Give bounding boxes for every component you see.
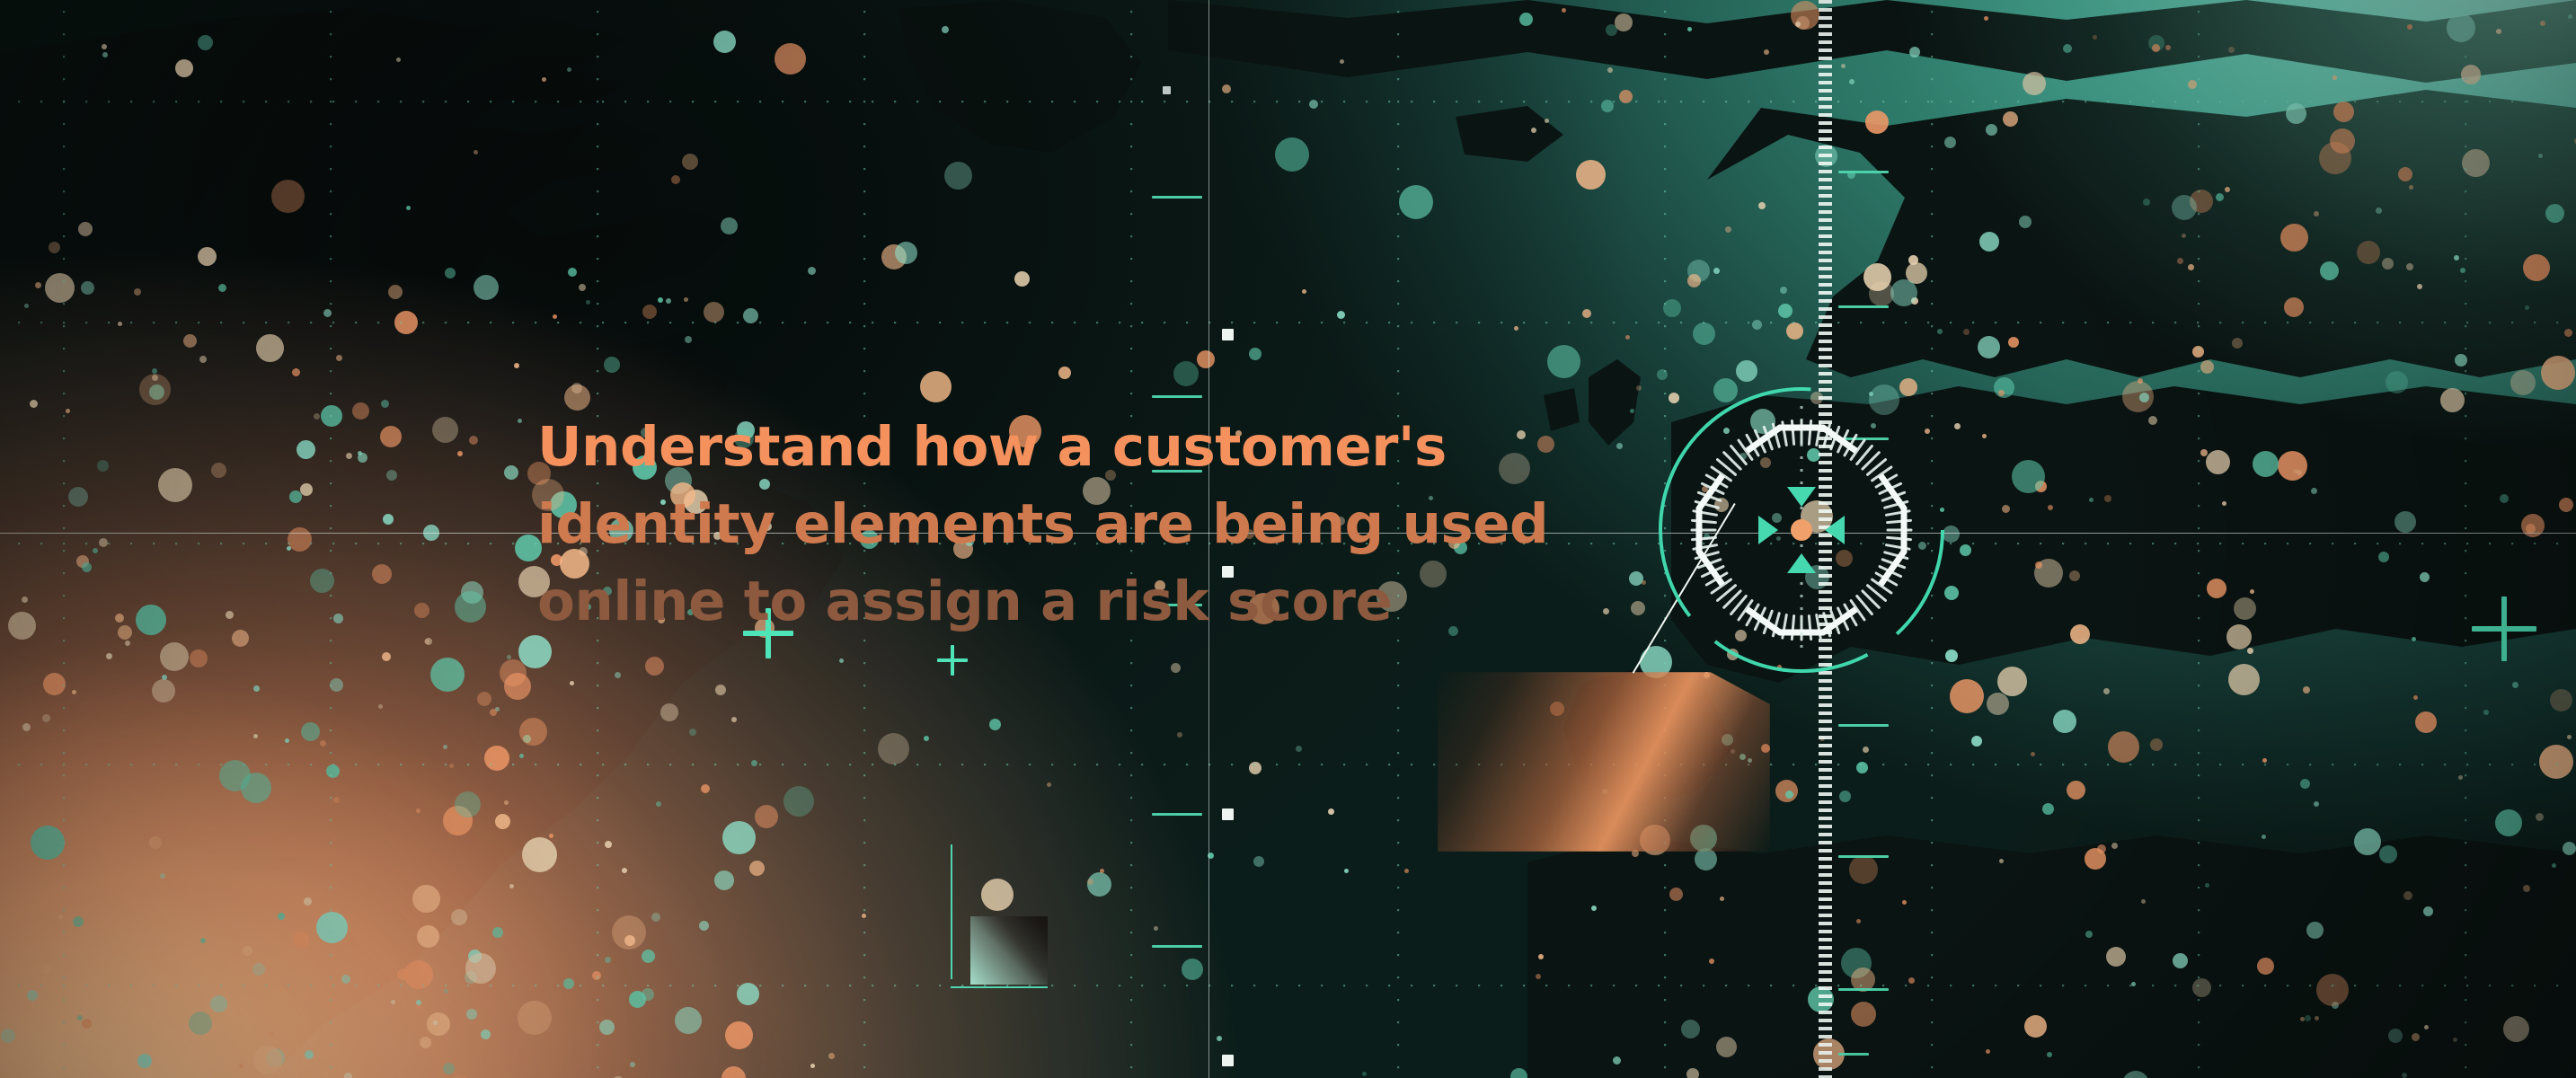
ruler-tick xyxy=(1838,988,1889,991)
page-title: Understand how a customer's identity ele… xyxy=(537,409,1508,641)
ruler-tick xyxy=(1152,813,1202,816)
chart-area-fill xyxy=(970,916,1048,985)
hero-banner: Understand how a customer's identity ele… xyxy=(0,0,2576,1078)
chart-x-axis xyxy=(951,986,1048,988)
ruler-tick xyxy=(1838,305,1889,308)
ruler-tick xyxy=(1838,855,1889,858)
ruler-tick xyxy=(1152,395,1202,398)
ruler-tick xyxy=(1152,196,1202,199)
marker-square xyxy=(1163,86,1171,94)
orange-data-panel xyxy=(1438,672,1770,852)
reticle-center-dot xyxy=(1791,519,1812,541)
chart-y-axis xyxy=(951,844,952,979)
headline-line-1: Understand how a customer's xyxy=(537,409,1508,486)
ruler-tick xyxy=(1838,171,1889,173)
marker-square xyxy=(1222,808,1234,820)
crosshair-marker xyxy=(2472,596,2536,661)
marker-square xyxy=(1222,329,1234,340)
targeting-reticle xyxy=(1658,386,1945,674)
headline-line-2: identity elements are being used xyxy=(537,486,1508,563)
mini-chart xyxy=(951,844,1139,988)
crosshair-marker xyxy=(937,645,968,676)
ruler-tick xyxy=(1838,1053,1869,1056)
ruler-tick xyxy=(1152,945,1202,948)
headline-line-3: online to assign a risk score xyxy=(537,563,1508,641)
ruler-tick xyxy=(1838,724,1889,727)
marker-square xyxy=(1222,1055,1234,1066)
